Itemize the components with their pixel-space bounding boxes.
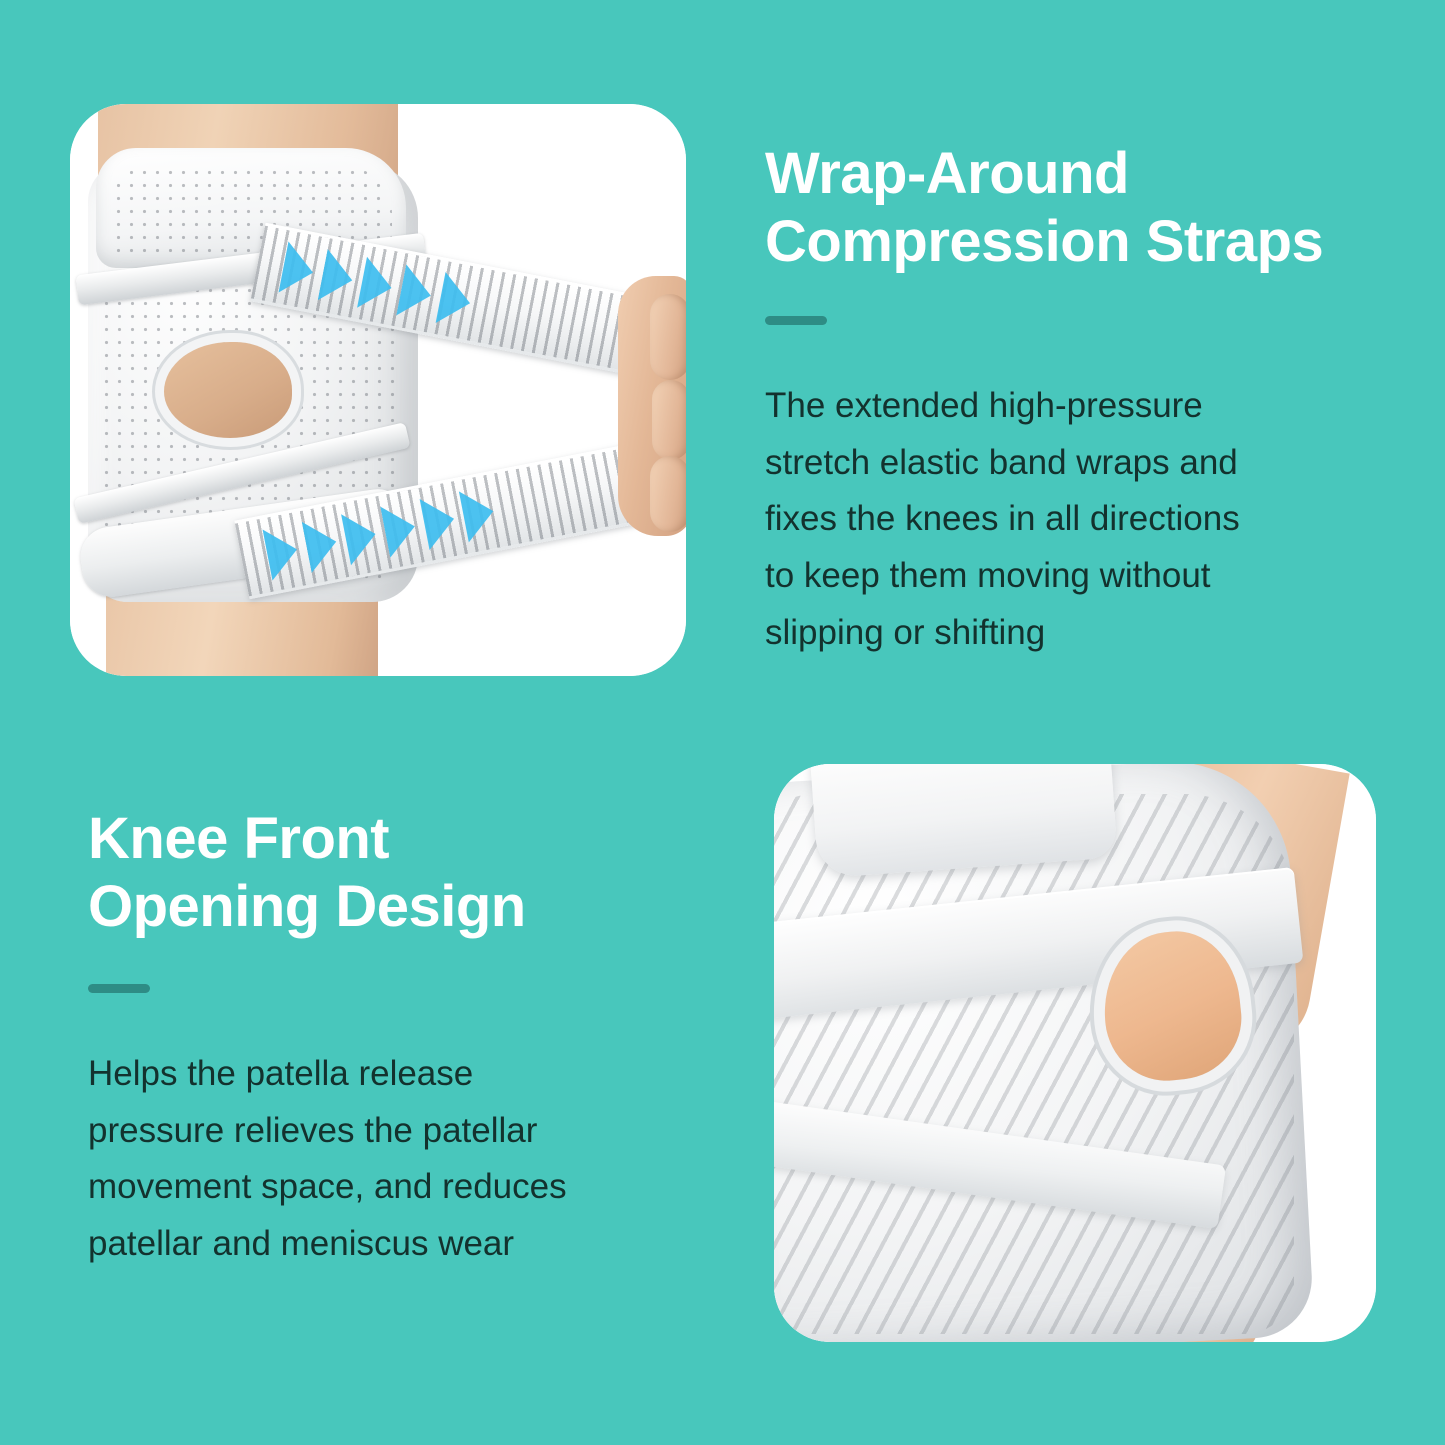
finger	[652, 380, 686, 460]
heading-divider-front-opening	[88, 984, 150, 993]
chevron-right-arrow-icon	[263, 524, 302, 581]
photo-canvas-bottom-right	[774, 764, 1376, 1342]
feature-heading-front-opening: Knee Front Opening Design	[88, 805, 708, 942]
product-photo-front-opening	[774, 764, 1376, 1342]
chevron-right-arrow-icon	[279, 241, 318, 298]
chevron-right-arrow-icon	[318, 249, 357, 306]
chevron-right-arrow-icon	[302, 516, 341, 573]
finger	[650, 294, 686, 380]
chevron-right-arrow-icon	[459, 486, 498, 543]
feature-body-compression-straps: The extended high-pressure stretch elast…	[765, 378, 1365, 661]
heading-divider-compression-straps	[765, 316, 827, 325]
feature-heading-compression-straps: Wrap-Around Compression Straps	[765, 140, 1405, 277]
chevron-right-arrow-icon	[357, 257, 396, 314]
chevron-right-arrow-icon	[380, 501, 419, 558]
finger	[650, 456, 686, 532]
chevron-right-arrow-icon	[396, 264, 435, 321]
photo-canvas-top-left	[70, 104, 686, 676]
chevron-right-arrow-icon	[341, 509, 380, 566]
product-photo-compression-straps	[70, 104, 686, 676]
product-feature-infographic: Wrap-Around Compression Straps The exten…	[0, 0, 1445, 1445]
feature-body-front-opening: Helps the patella release pressure relie…	[88, 1046, 678, 1273]
patella-opening	[164, 342, 292, 438]
chevron-right-arrow-icon	[436, 272, 475, 329]
chevron-right-arrow-icon	[420, 493, 459, 550]
